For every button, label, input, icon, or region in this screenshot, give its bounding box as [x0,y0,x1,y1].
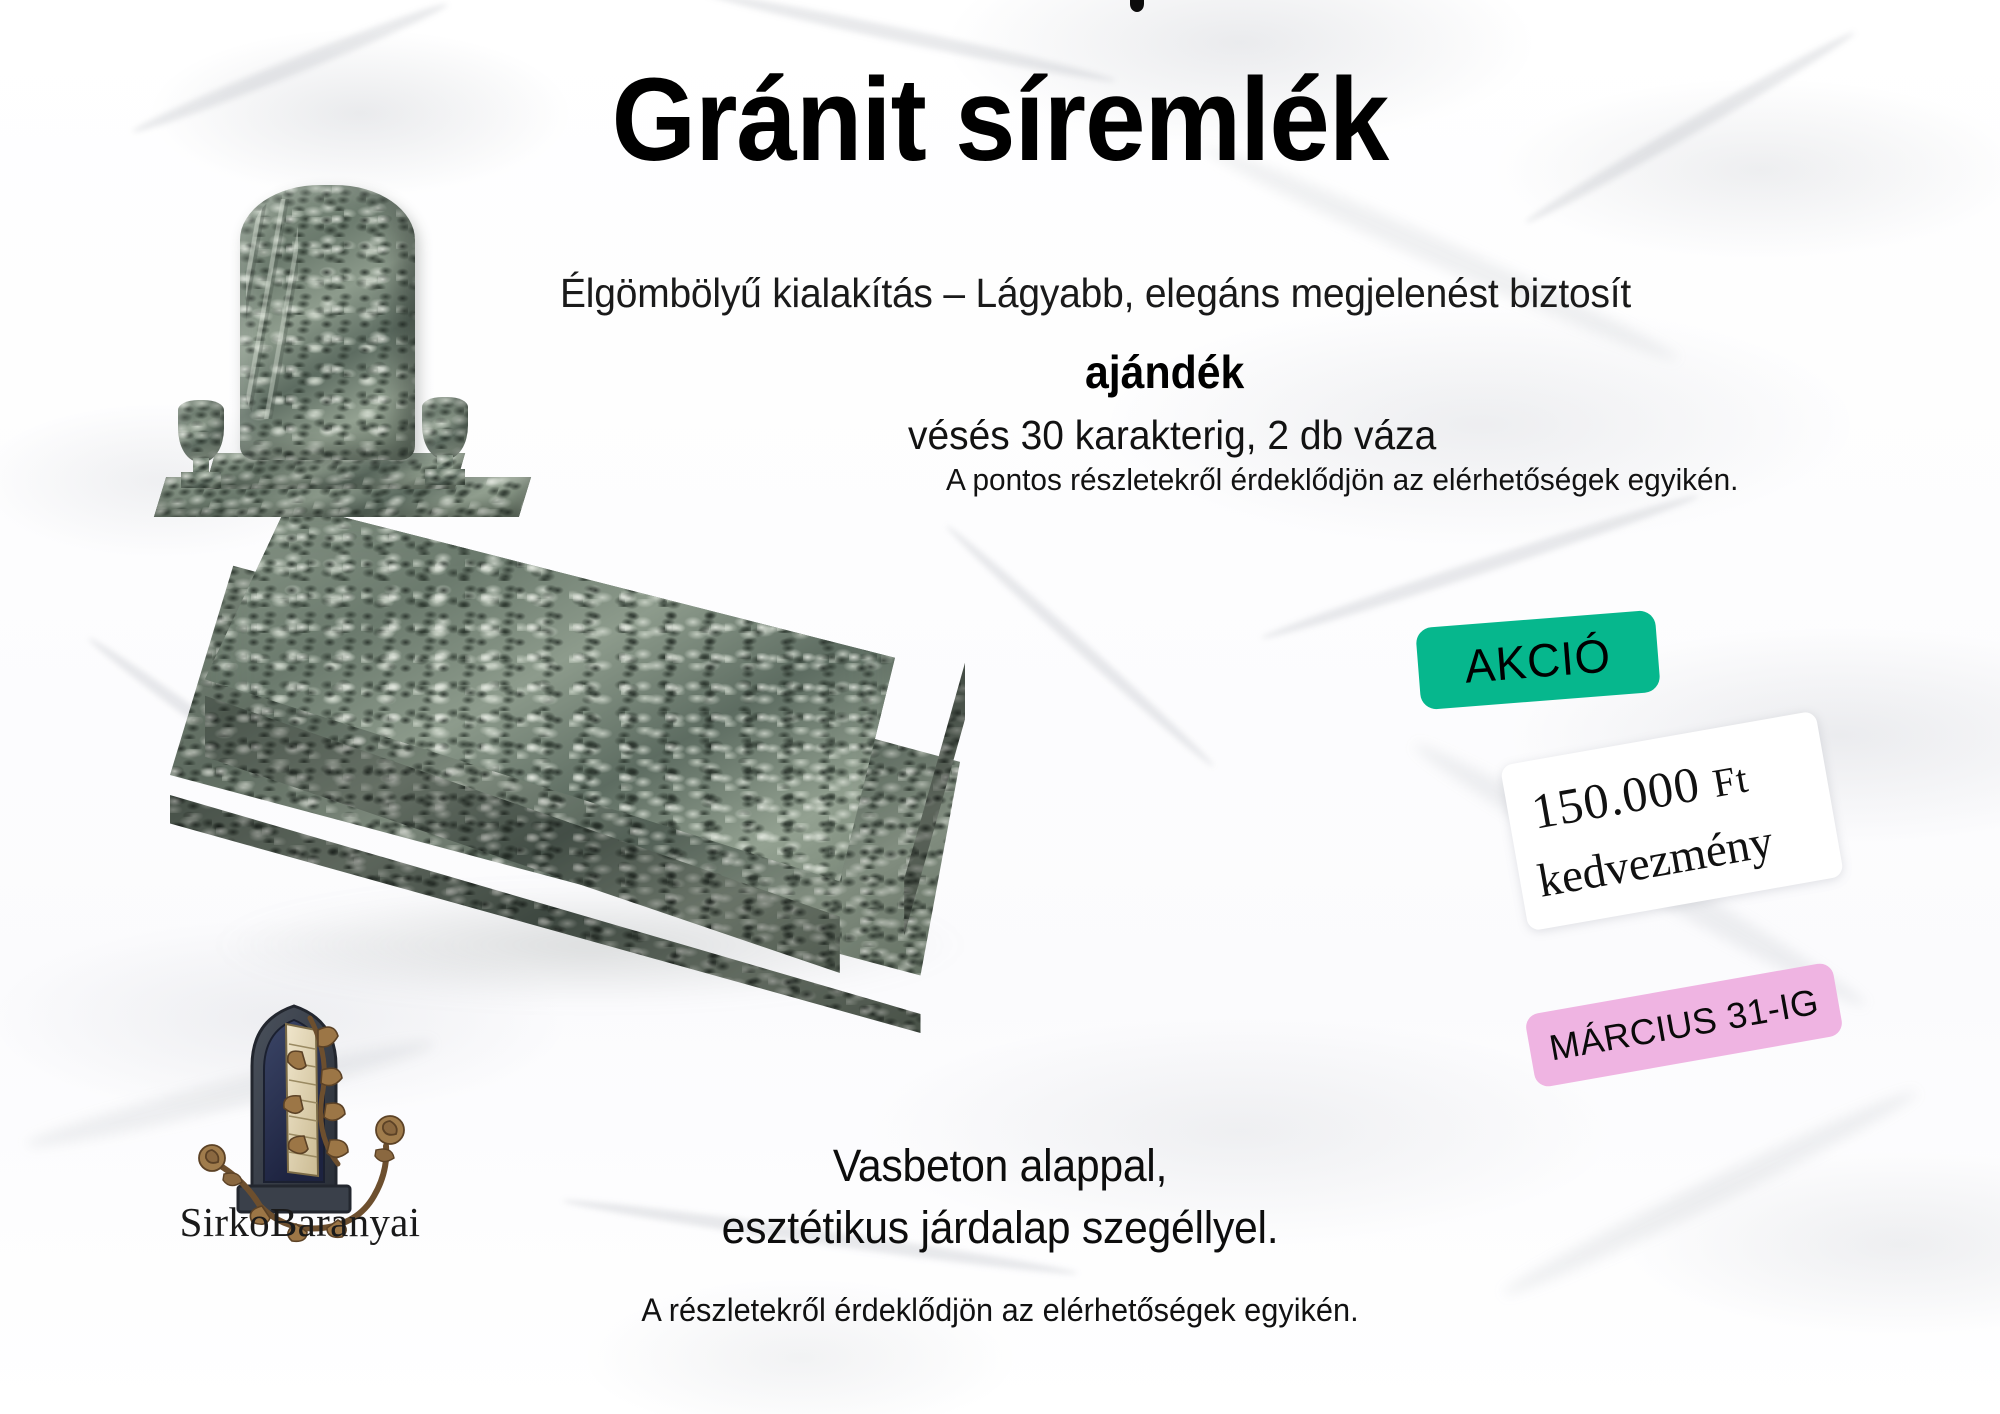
page-title: Gránit síremlék [80,52,1920,188]
product-subtitle: Élgömbölyű kialakítás – Lágyabb, elegáns… [560,270,1795,317]
sale-badge-label: AKCIÓ [1463,627,1614,693]
granite-vase-right [422,397,468,487]
gift-detail: vésés 30 karakterig, 2 db váza [908,412,1436,459]
footer-note: A részletekről érdeklődjön az elérhetősé… [40,1292,1960,1329]
brand-name: SirkoBaranyai [140,1198,460,1246]
footer-headline-line1: Vasbeton alappal, [833,1140,1167,1191]
gift-note: A pontos részletekről érdeklődjön az elé… [946,462,1738,498]
granite-vase-left [178,400,224,490]
gift-heading: ajándék [1085,345,1244,399]
discount-currency: Ft [1709,755,1752,805]
advertisement-poster: Gránit síremlék Élgömbölyű kialakítás – … [0,0,2000,1414]
monument-headstone [240,185,415,460]
discount-amount-value: 150.000 [1527,755,1704,840]
